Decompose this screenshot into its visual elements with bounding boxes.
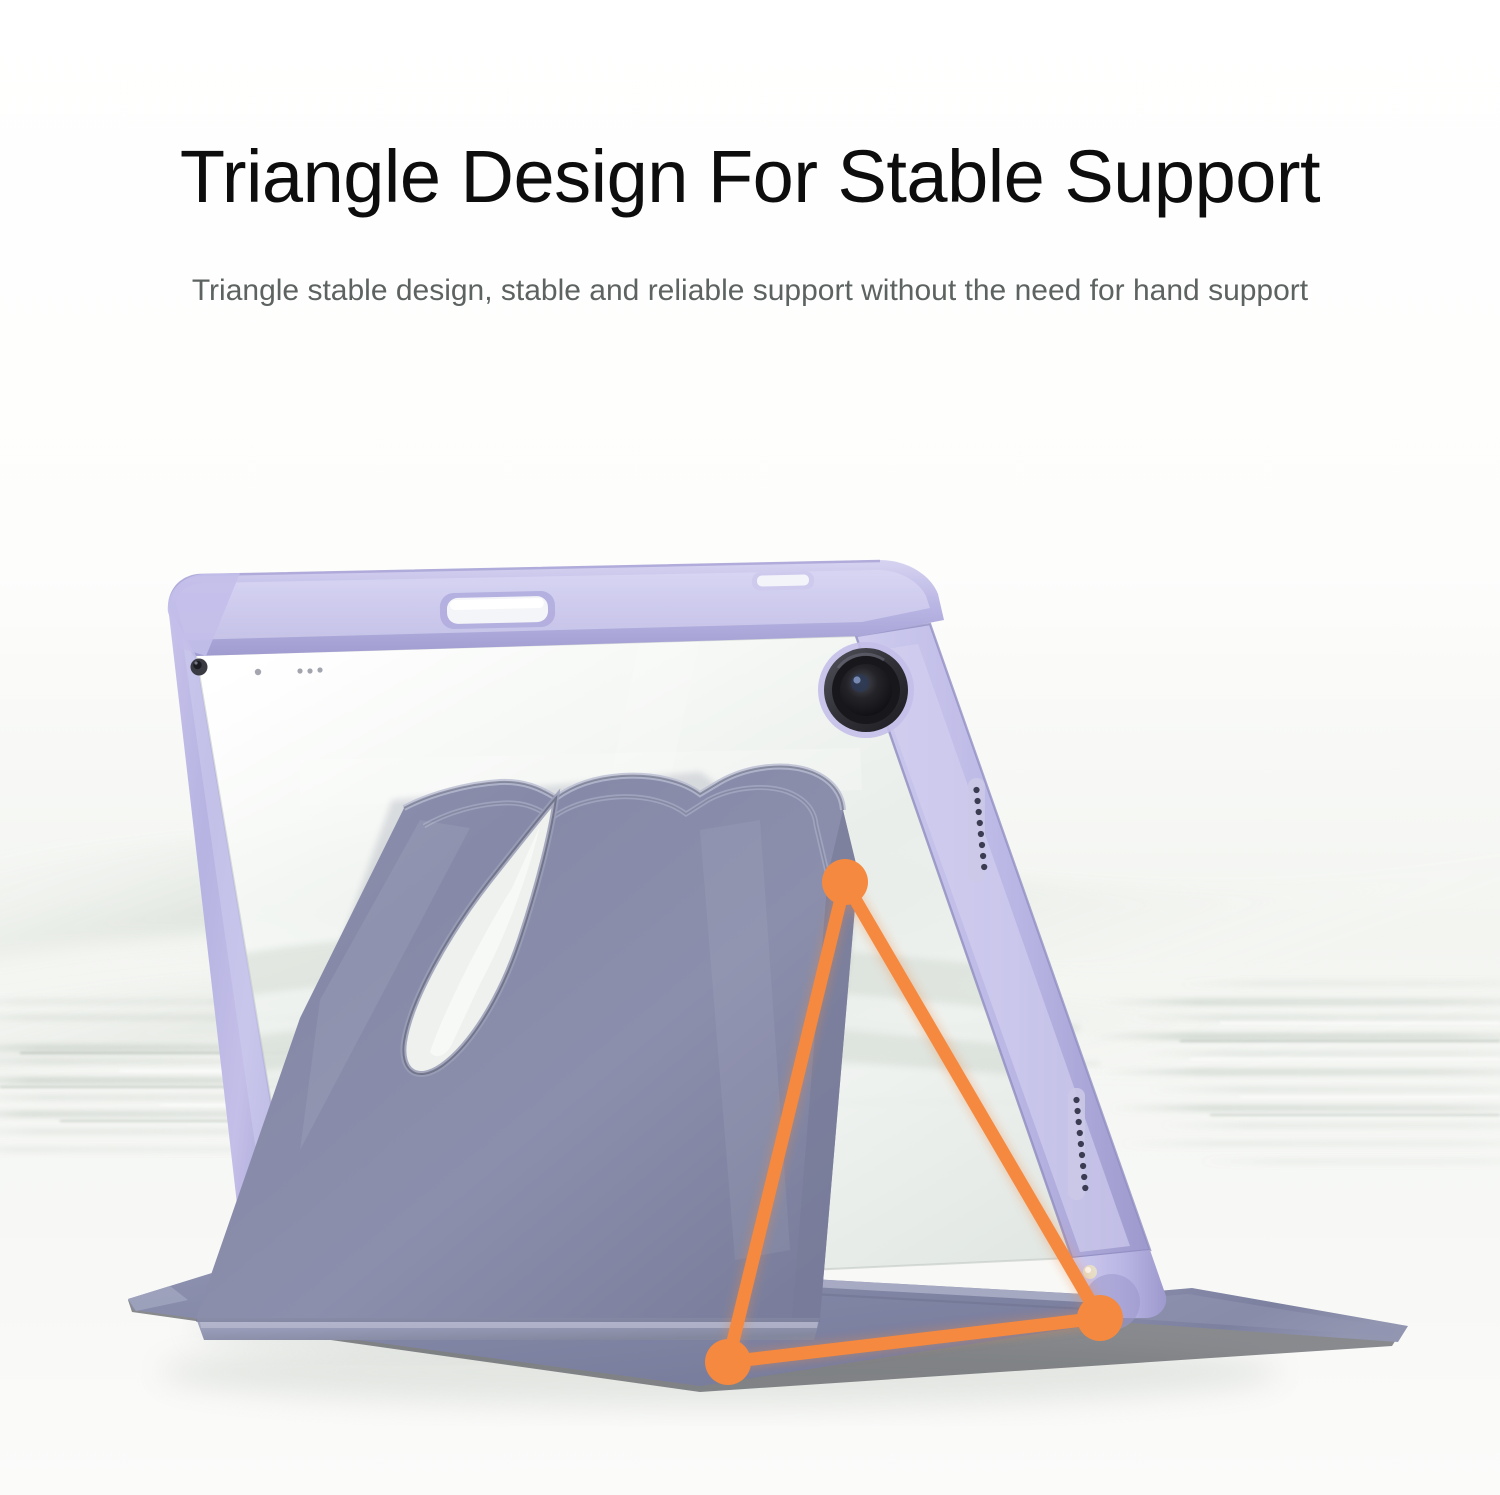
triangle-vertex-base-right-hotspot[interactable] — [1077, 1295, 1123, 1341]
page-header: Triangle Design For Stable Support Trian… — [0, 0, 1500, 360]
page-subtitle: Triangle stable design, stable and relia… — [0, 272, 1500, 310]
page-title: Triangle Design For Stable Support — [0, 140, 1500, 214]
triangle-vertex-base-left-hotspot[interactable] — [705, 1339, 751, 1385]
kickstand-teardrop-cutout[interactable] — [398, 780, 568, 1090]
speaker-grille-lower[interactable] — [1062, 1082, 1094, 1208]
pen-holder-slot[interactable] — [438, 588, 560, 632]
rear-camera-module[interactable] — [818, 642, 914, 738]
speaker-grille-upper[interactable] — [962, 772, 994, 890]
triangle-vertex-apex-hotspot[interactable] — [822, 859, 868, 905]
product-feature-page: Triangle Design For Stable Support Trian… — [0, 0, 1500, 1495]
case-base-flap-region[interactable] — [126, 1246, 1411, 1351]
